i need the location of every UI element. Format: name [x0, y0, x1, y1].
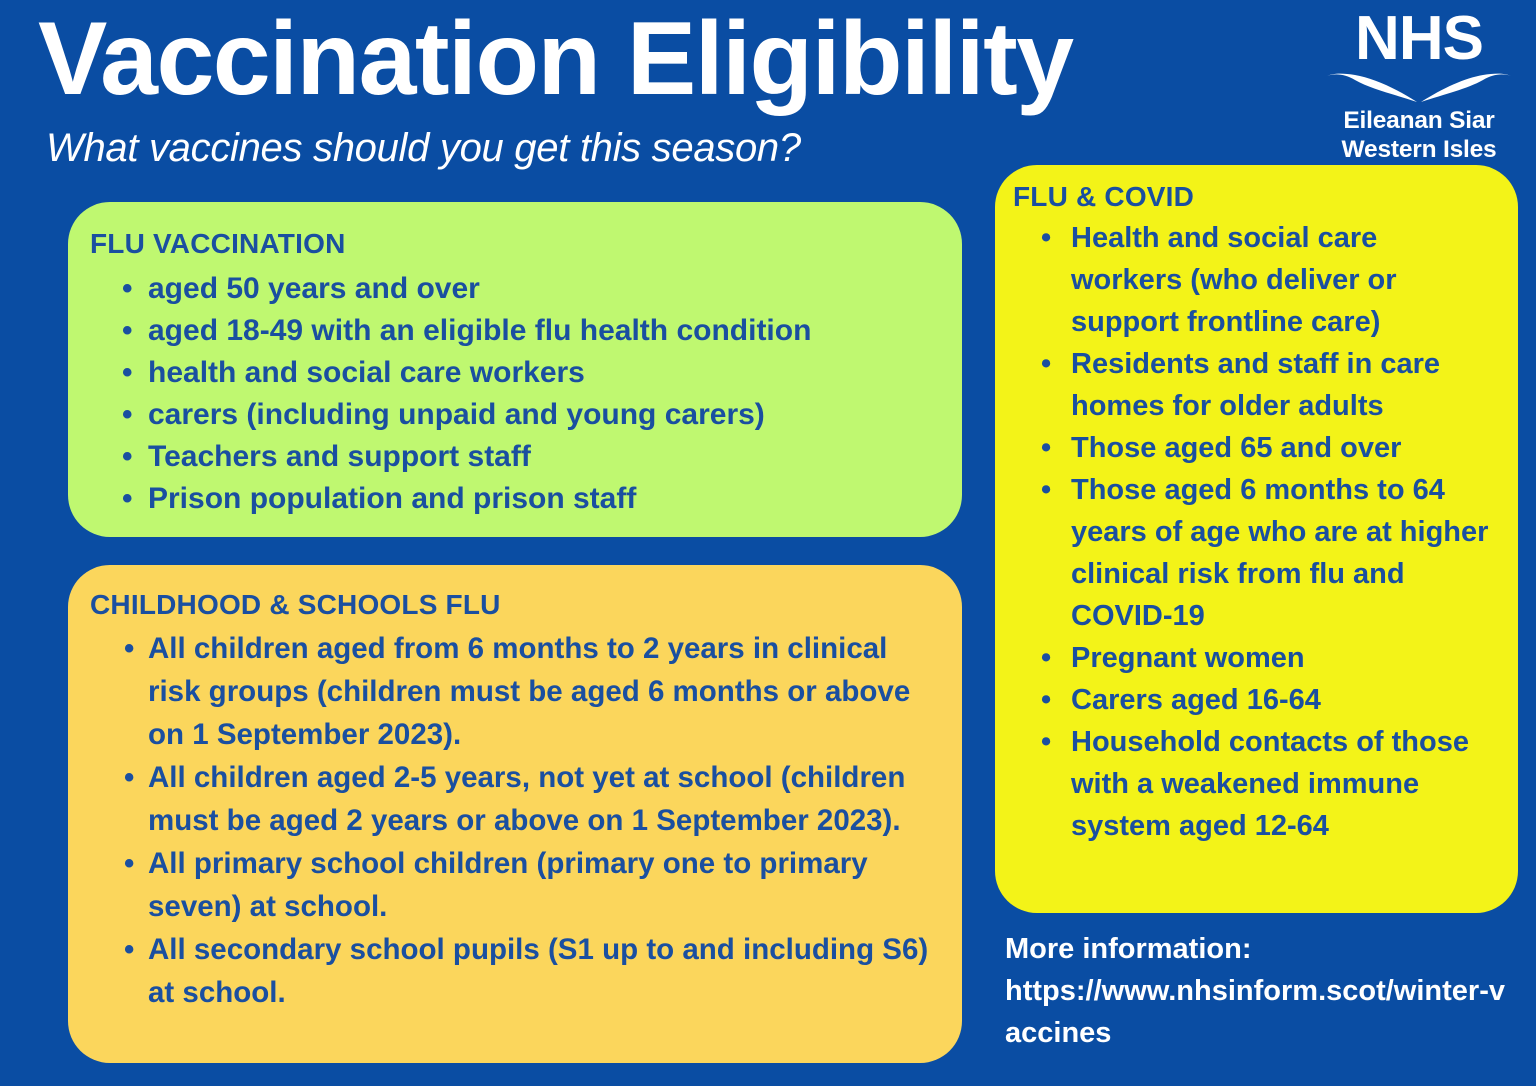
bullet-icon: • [1041, 721, 1051, 763]
card-childhood-schools-flu-list: • All children aged from 6 months to 2 y… [90, 627, 934, 1014]
card-flu-vaccination: FLU VACCINATION • aged 50 years and over… [68, 202, 962, 537]
more-information-label: More information: [1005, 928, 1521, 970]
bullet-icon: • [1041, 427, 1051, 469]
list-item-label: All children aged 2-5 years, not yet at … [148, 756, 934, 842]
list-item: • All children aged 2-5 years, not yet a… [90, 756, 934, 842]
nhs-board-name-line2: Western Isles [1320, 136, 1518, 164]
list-item: • Health and social care workers (who de… [1013, 217, 1496, 343]
bullet-icon: • [122, 352, 133, 394]
bullet-icon: • [1041, 469, 1051, 511]
list-item: • Those aged 65 and over [1013, 427, 1496, 469]
card-childhood-schools-flu-title: CHILDHOOD & SCHOOLS FLU [90, 589, 934, 621]
list-item-label: Health and social care workers (who deli… [1071, 217, 1496, 343]
bullet-icon: • [124, 928, 134, 971]
bullet-icon: • [122, 268, 133, 310]
poster-canvas: Vaccination Eligibility What vaccines sh… [0, 0, 1536, 1086]
bullet-icon: • [1041, 679, 1051, 721]
list-item-label: aged 50 years and over [148, 268, 932, 310]
list-item-label: Pregnant women [1071, 637, 1496, 679]
nhs-wave-icon [1325, 72, 1513, 106]
list-item-label: Those aged 6 months to 64 years of age w… [1071, 469, 1496, 637]
bullet-icon: • [122, 394, 133, 436]
bullet-icon: • [1041, 637, 1051, 679]
list-item: • carers (including unpaid and young car… [90, 394, 932, 436]
nhs-board-name-line1: Eileanan Siar [1320, 107, 1518, 135]
list-item: • Residents and staff in care homes for … [1013, 343, 1496, 427]
list-item-label: All primary school children (primary one… [148, 842, 934, 928]
list-item: • Carers aged 16-64 [1013, 679, 1496, 721]
list-item-label: Prison population and prison staff [148, 478, 932, 520]
list-item: • Those aged 6 months to 64 years of age… [1013, 469, 1496, 637]
list-item: • aged 18-49 with an eligible flu health… [90, 310, 932, 352]
list-item-label: Residents and staff in care homes for ol… [1071, 343, 1496, 427]
list-item-label: Household contacts of those with a weake… [1071, 721, 1496, 847]
list-item-label: Those aged 65 and over [1071, 427, 1496, 469]
nhs-logo: NHS Eileanan Siar Western Isles [1320, 8, 1518, 164]
bullet-icon: • [122, 310, 133, 352]
card-flu-and-covid-list: • Health and social care workers (who de… [1013, 217, 1496, 847]
list-item-label: Teachers and support staff [148, 436, 932, 478]
more-information-url[interactable]: https://www.nhsinform.scot/winter-vaccin… [1005, 970, 1521, 1054]
list-item-label: Carers aged 16-64 [1071, 679, 1496, 721]
list-item-label: All secondary school pupils (S1 up to an… [148, 928, 934, 1014]
list-item: • All primary school children (primary o… [90, 842, 934, 928]
card-flu-and-covid-title: FLU & COVID [1013, 181, 1496, 213]
poster-header: Vaccination Eligibility What vaccines sh… [38, 6, 1218, 170]
list-item-label: health and social care workers [148, 352, 932, 394]
card-childhood-schools-flu: CHILDHOOD & SCHOOLS FLU • All children a… [68, 565, 962, 1063]
list-item: • Prison population and prison staff [90, 478, 932, 520]
list-item-label: aged 18-49 with an eligible flu health c… [148, 310, 932, 352]
list-item: • All secondary school pupils (S1 up to … [90, 928, 934, 1014]
bullet-icon: • [122, 478, 133, 520]
more-information-block: More information: https://www.nhsinform.… [1005, 928, 1521, 1054]
bullet-icon: • [124, 627, 134, 670]
bullet-icon: • [122, 436, 133, 478]
bullet-icon: • [1041, 217, 1051, 259]
bullet-icon: • [1041, 343, 1051, 385]
list-item: • All children aged from 6 months to 2 y… [90, 627, 934, 756]
list-item: • aged 50 years and over [90, 268, 932, 310]
bullet-icon: • [124, 842, 134, 885]
page-title: Vaccination Eligibility [38, 6, 1218, 112]
list-item: • Teachers and support staff [90, 436, 932, 478]
list-item-label: carers (including unpaid and young carer… [148, 394, 932, 436]
list-item: • health and social care workers [90, 352, 932, 394]
page-subtitle: What vaccines should you get this season… [46, 126, 1218, 170]
nhs-wordmark: NHS [1320, 8, 1518, 70]
list-item: • Pregnant women [1013, 637, 1496, 679]
card-flu-and-covid: FLU & COVID • Health and social care wor… [995, 165, 1518, 913]
card-flu-vaccination-list: • aged 50 years and over • aged 18-49 wi… [90, 268, 932, 520]
card-flu-vaccination-title: FLU VACCINATION [90, 228, 932, 260]
list-item: • Household contacts of those with a wea… [1013, 721, 1496, 847]
bullet-icon: • [124, 756, 134, 799]
list-item-label: All children aged from 6 months to 2 yea… [148, 627, 934, 756]
